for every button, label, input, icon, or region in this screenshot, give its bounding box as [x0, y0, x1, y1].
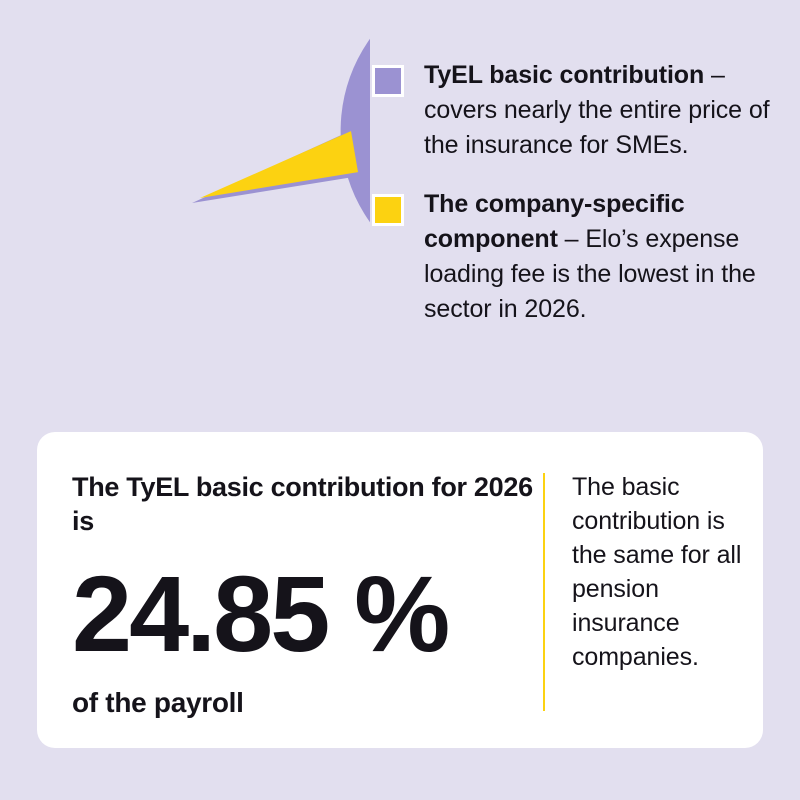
stat-note-text: The basic contribution is the same for a…	[572, 470, 752, 674]
chart-section: TyEL basic contribution – covers nearly …	[0, 0, 800, 432]
stat-main-block: The TyEL basic contribution for 2026 is …	[72, 470, 542, 720]
legend-item-title: TyEL basic contribution	[424, 61, 704, 89]
yellow-swatch-icon	[372, 194, 404, 226]
legend-item-company-specific-component: The company-specific component – Elo’s e…	[370, 187, 790, 327]
stat-lead-text: The TyEL basic contribution for 2026 is	[72, 470, 542, 538]
legend-item-text: The company-specific component – Elo’s e…	[424, 187, 790, 327]
stat-card: The TyEL basic contribution for 2026 is …	[37, 432, 763, 748]
chart-legend: TyEL basic contribution – covers nearly …	[370, 58, 790, 351]
legend-item-text: TyEL basic contribution – covers nearly …	[424, 58, 790, 163]
stat-unit-text: of the payroll	[72, 686, 542, 720]
pie-chart	[14, 25, 370, 381]
pie-chart-svg	[14, 25, 370, 381]
vertical-divider	[543, 473, 545, 711]
legend-item-tyel-basic-contribution: TyEL basic contribution – covers nearly …	[370, 58, 790, 163]
stat-value: 24.85 %	[72, 560, 542, 668]
purple-swatch-icon	[372, 65, 404, 97]
